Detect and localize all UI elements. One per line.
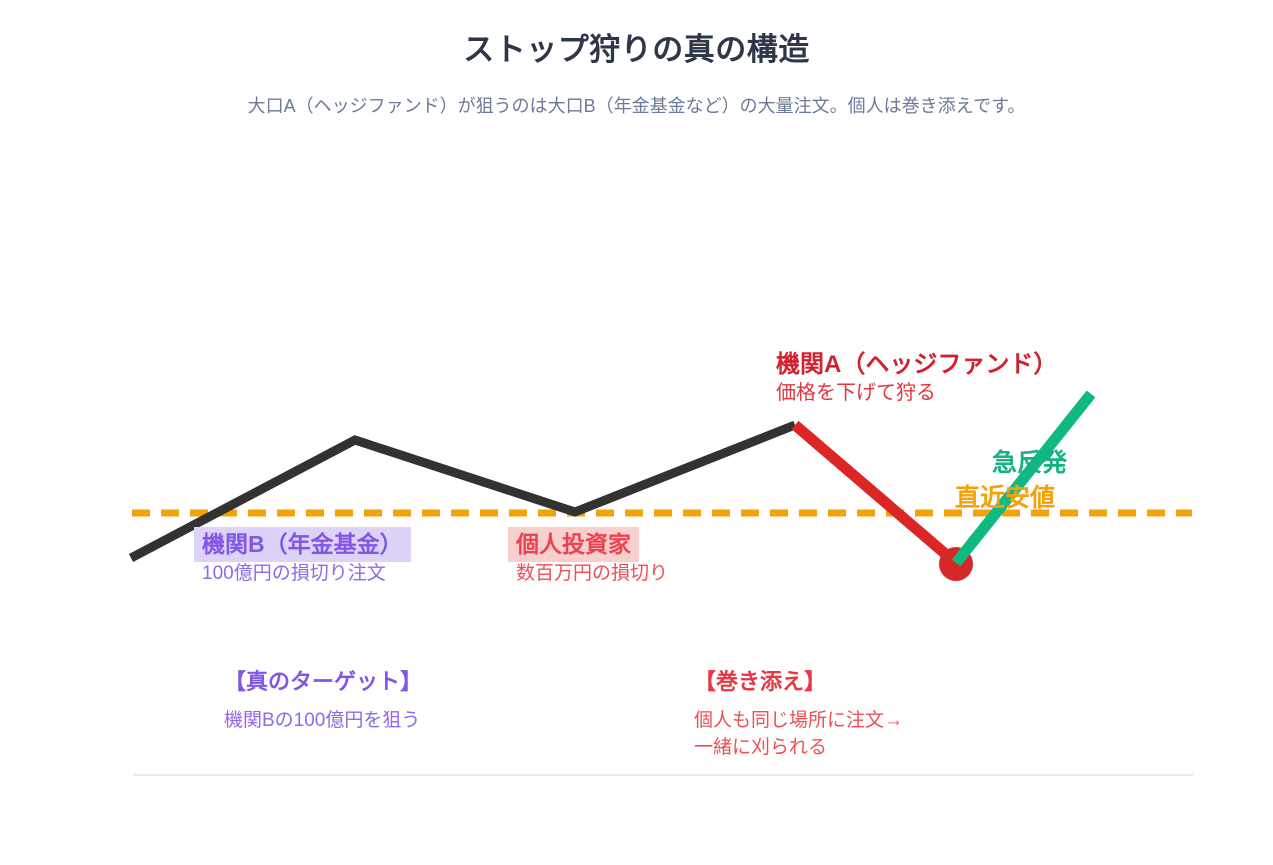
page-title: ストップ狩りの真の構造 [0, 24, 1273, 69]
price-chart [0, 0, 1273, 865]
chart-marker-stop-hunt-low [939, 547, 973, 581]
label-recent-low: 直近安値 [955, 478, 1055, 514]
page-subtitle: 大口A（ヘッジファンド）が狙うのは大口B（年金基金など）の大量注文。個人は巻き添… [0, 92, 1273, 118]
note-collateral-damage-line-1: 個人も同じ場所に注文→ [694, 708, 903, 735]
footer-divider [133, 774, 1193, 776]
note-true-target: 【真のターゲット】 機関Bの100億円を狙う [224, 668, 422, 735]
diagram-canvas: ストップ狩りの真の構造 大口A（ヘッジファンド）が狙うのは大口B（年金基金など）… [0, 0, 1273, 865]
callout-institution-b-title: 機関B（年金基金） [194, 527, 411, 562]
note-collateral-damage: 【巻き添え】 個人も同じ場所に注文→ 一緒に刈られる [694, 668, 903, 762]
callout-institution-b-detail: 100億円の損切り注文 [194, 562, 411, 587]
annotation-institution-a: 機関A（ヘッジファンド） 価格を下げて狩る [776, 350, 1176, 406]
callout-retail-investor-title: 個人投資家 [508, 527, 639, 562]
annotation-institution-a-title: 機関A（ヘッジファンド） [776, 350, 1176, 379]
annotation-institution-a-subtitle: 価格を下げて狩る [776, 381, 1176, 406]
note-collateral-damage-title: 【巻き添え】 [694, 668, 903, 697]
callout-retail-investor: 個人投資家 数百万円の損切り [508, 527, 668, 587]
note-true-target-title: 【真のターゲット】 [224, 668, 422, 697]
chart-series-line [795, 425, 956, 563]
note-true-target-line-1: 機関Bの100億円を狙う [224, 708, 422, 735]
callout-retail-investor-detail: 数百万円の損切り [508, 562, 668, 587]
callout-institution-b: 機関B（年金基金） 100億円の損切り注文 [194, 527, 411, 587]
label-rebound: 急反発 [992, 443, 1067, 479]
note-collateral-damage-line-2: 一緒に刈られる [694, 735, 903, 762]
